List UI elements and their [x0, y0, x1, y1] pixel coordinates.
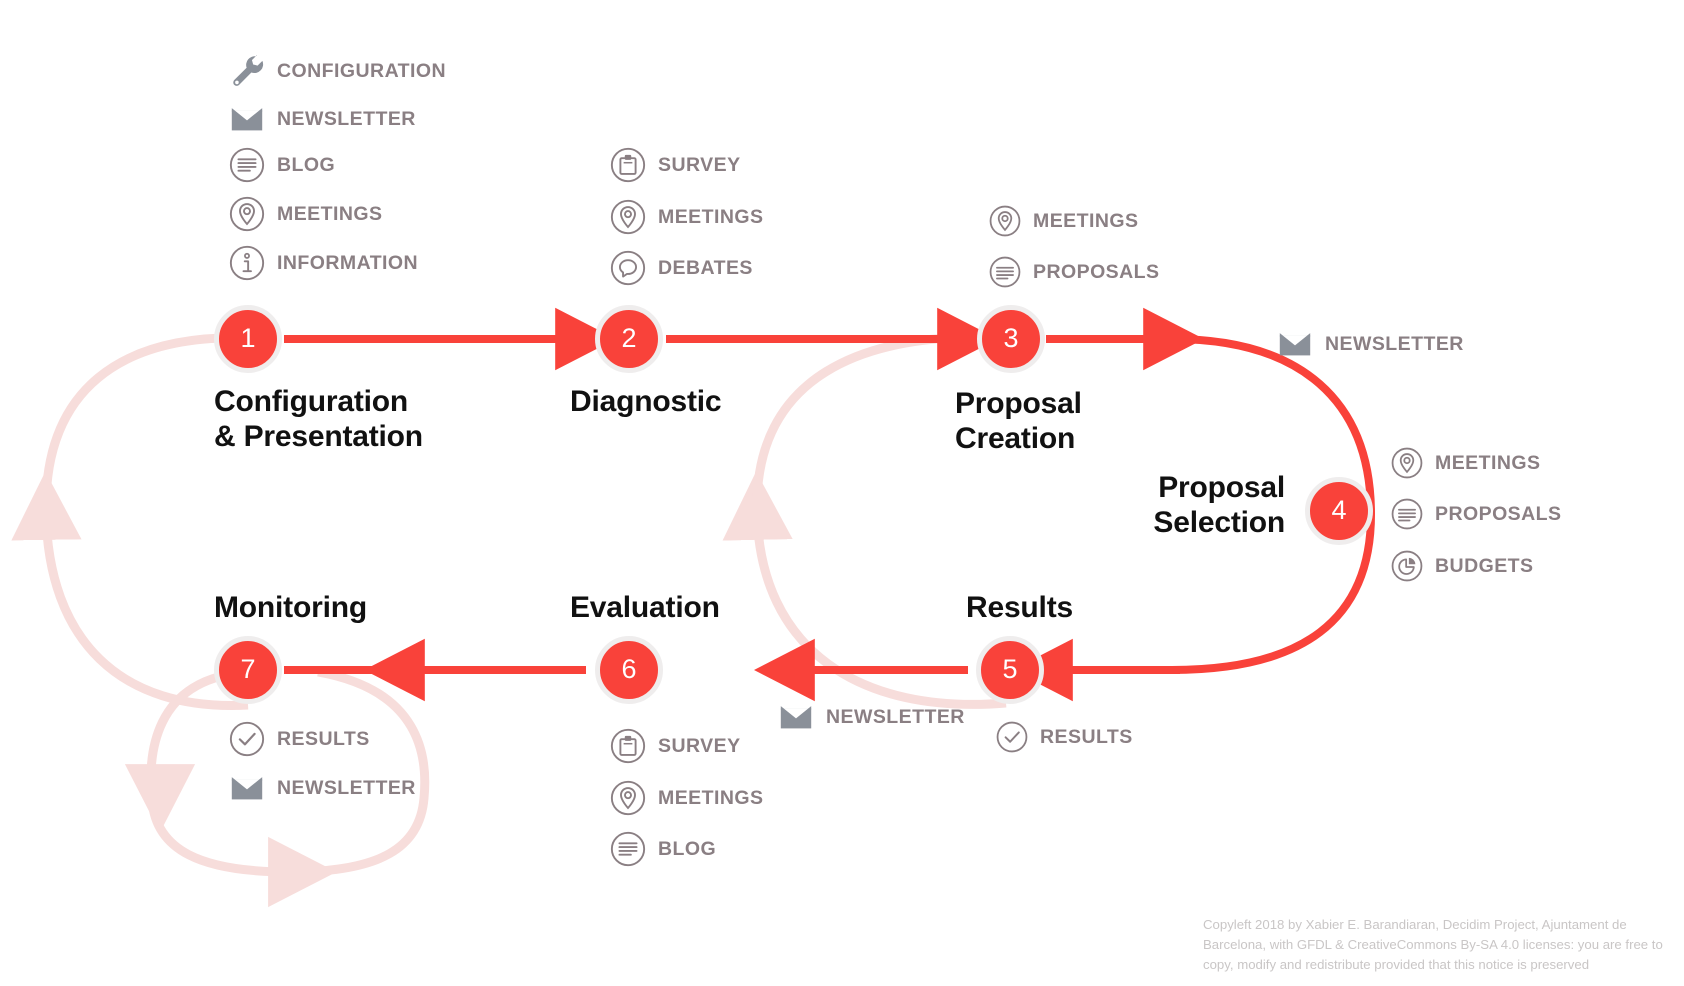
step-title-6: Evaluation: [570, 590, 720, 625]
step-number-1: 1: [240, 325, 255, 352]
feature-label: MEETINGS: [277, 203, 382, 226]
feature-proposals-4[interactable]: PROPOSALS: [1390, 497, 1562, 531]
map-pin-icon: [1390, 446, 1424, 480]
edge-label-newsletter-2[interactable]: NEWSLETTER: [777, 698, 965, 736]
feature-label: BLOG: [277, 154, 335, 177]
map-pin-icon: [228, 195, 266, 233]
feature-newsletter-7[interactable]: NEWSLETTER: [228, 769, 416, 807]
clipboard-icon: [609, 146, 647, 184]
step-number-3: 3: [1003, 325, 1018, 352]
flow-diagram: 1 2 3 4 5 6 7 Configuration & Presentati…: [0, 0, 1684, 986]
step-number-4: 4: [1331, 497, 1346, 524]
blog-icon: [228, 146, 266, 184]
clipboard-icon: [609, 727, 647, 765]
step-number-2: 2: [621, 325, 636, 352]
envelope-icon: [228, 100, 266, 138]
feature-blog-6[interactable]: BLOG: [609, 830, 716, 868]
feature-label: MEETINGS: [658, 787, 763, 810]
feature-label: PROPOSALS: [1033, 261, 1160, 284]
envelope-icon: [1276, 325, 1314, 363]
envelope-icon: [777, 698, 815, 736]
step-title-2: Diagnostic: [570, 384, 721, 419]
feature-label: PROPOSALS: [1435, 503, 1562, 526]
feature-label: SURVEY: [658, 154, 741, 177]
feature-newsletter-1[interactable]: NEWSLETTER: [228, 100, 416, 138]
check-icon: [228, 720, 266, 758]
step-number-6: 6: [621, 656, 636, 683]
feature-label: SURVEY: [658, 735, 741, 758]
chat-icon: [609, 249, 647, 287]
proposal-icon: [988, 255, 1022, 289]
step-node-7[interactable]: 7: [214, 636, 282, 704]
blog-icon: [609, 830, 647, 868]
feature-label: MEETINGS: [1033, 210, 1138, 233]
feature-label: CONFIGURATION: [277, 60, 446, 83]
step-title-1: Configuration & Presentation: [214, 384, 423, 455]
wrench-icon: [228, 52, 266, 90]
step-node-5[interactable]: 5: [976, 636, 1044, 704]
feature-label: NEWSLETTER: [277, 777, 416, 800]
step-number-7: 7: [240, 656, 255, 683]
feature-label: NEWSLETTER: [277, 108, 416, 131]
feature-survey-2[interactable]: SURVEY: [609, 146, 741, 184]
feature-label: MEETINGS: [658, 206, 763, 229]
info-icon: [228, 244, 266, 282]
step-node-3[interactable]: 3: [977, 305, 1045, 373]
feature-budgets[interactable]: BUDGETS: [1390, 549, 1534, 583]
step-node-6[interactable]: 6: [595, 636, 663, 704]
feature-configuration[interactable]: CONFIGURATION: [228, 52, 446, 90]
feature-label: NEWSLETTER: [1325, 333, 1464, 356]
budget-icon: [1390, 549, 1424, 583]
feature-meetings-4[interactable]: MEETINGS: [1390, 446, 1540, 480]
feature-label: BLOG: [658, 838, 716, 861]
copyright-notice: Copyleft 2018 by Xabier E. Barandiaran, …: [1203, 915, 1673, 974]
feature-results-7[interactable]: RESULTS: [228, 720, 370, 758]
map-pin-icon: [988, 204, 1022, 238]
feature-meetings-1[interactable]: MEETINGS: [228, 195, 382, 233]
proposal-icon: [1390, 497, 1424, 531]
step-title-3: Proposal Creation: [955, 386, 1082, 457]
map-pin-icon: [609, 198, 647, 236]
step-title-4: Proposal Selection: [1035, 470, 1285, 541]
feature-proposals-3[interactable]: PROPOSALS: [988, 255, 1160, 289]
feature-information[interactable]: INFORMATION: [228, 244, 418, 282]
check-icon: [995, 720, 1029, 754]
feature-label: DEBATES: [658, 257, 753, 280]
map-pin-icon: [609, 779, 647, 817]
envelope-icon: [228, 769, 266, 807]
step-node-1[interactable]: 1: [214, 305, 282, 373]
feature-label: MEETINGS: [1435, 452, 1540, 475]
step-node-2[interactable]: 2: [595, 305, 663, 373]
feature-label: INFORMATION: [277, 252, 418, 275]
feature-label: BUDGETS: [1435, 555, 1534, 578]
edge-label-newsletter-1[interactable]: NEWSLETTER: [1276, 325, 1464, 363]
feature-label: RESULTS: [277, 728, 370, 751]
feature-debates[interactable]: DEBATES: [609, 249, 753, 287]
feature-survey-6[interactable]: SURVEY: [609, 727, 741, 765]
feature-meetings-3[interactable]: MEETINGS: [988, 204, 1138, 238]
feature-results-5[interactable]: RESULTS: [995, 720, 1133, 754]
feature-label: RESULTS: [1040, 726, 1133, 749]
feature-meetings-6[interactable]: MEETINGS: [609, 779, 763, 817]
step-title-5: Results: [966, 590, 1073, 625]
step-node-4[interactable]: 4: [1305, 477, 1373, 545]
step-title-7: Monitoring: [214, 590, 367, 625]
step-number-5: 5: [1002, 656, 1017, 683]
feature-meetings-2[interactable]: MEETINGS: [609, 198, 763, 236]
feature-blog-1[interactable]: BLOG: [228, 146, 335, 184]
feature-label: NEWSLETTER: [826, 706, 965, 729]
